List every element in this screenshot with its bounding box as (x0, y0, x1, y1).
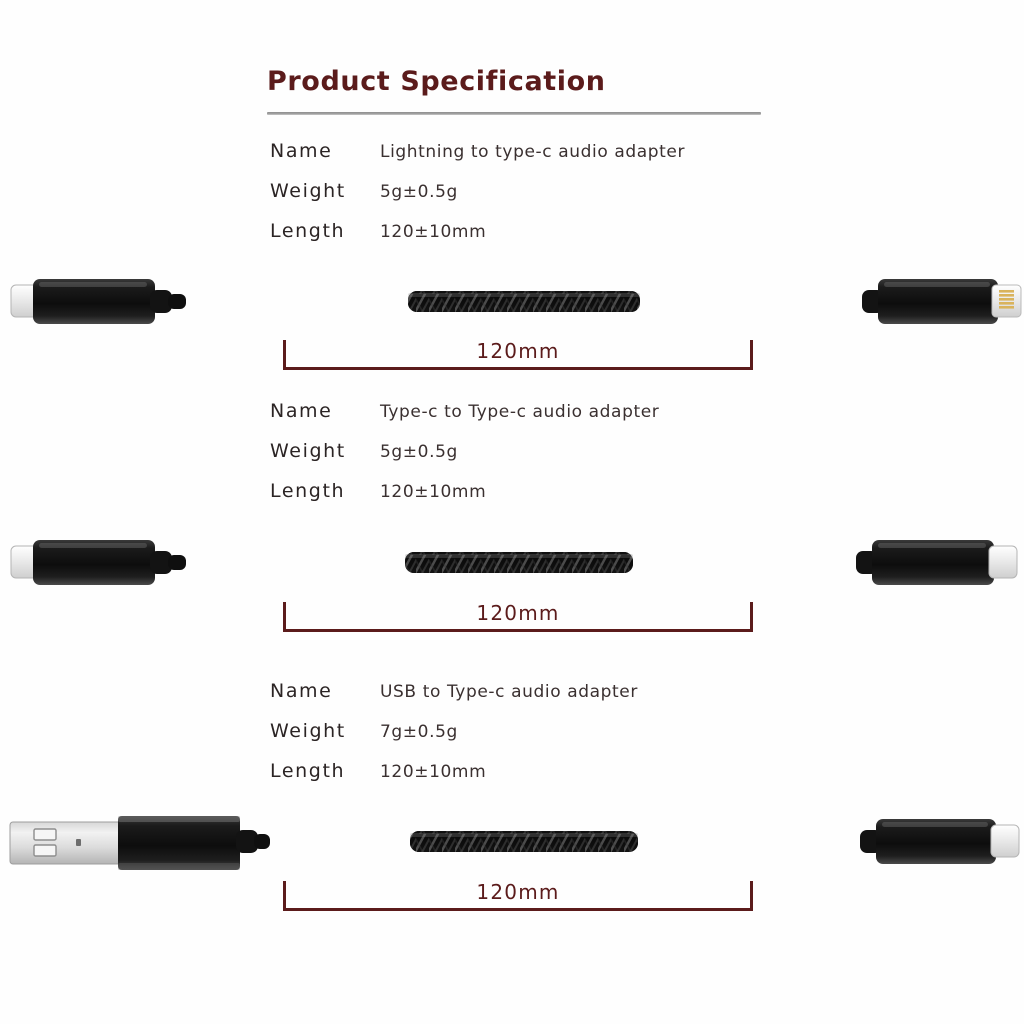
spec-value-length: 120±10mm (380, 482, 486, 502)
spec-row-weight: Weight 7g±0.5g (0, 720, 1024, 760)
spec-row-length: Length 120±10mm (0, 480, 1024, 520)
spec-label-name: Name (270, 680, 332, 702)
dimension-bracket-2: 120mm (283, 598, 753, 632)
spec-label-length: Length (270, 220, 345, 242)
page-title: Product Specification (267, 66, 606, 97)
usb-c-connector-right-3 (860, 819, 1019, 864)
spec-value-name: Type-c to Type-c audio adapter (380, 402, 659, 422)
spec-value-name: USB to Type-c audio adapter (380, 682, 638, 702)
dimension-tick-right (750, 340, 753, 370)
dimension-line (283, 367, 753, 370)
spec-label-weight: Weight (270, 720, 346, 742)
dimension-tick-right (750, 602, 753, 632)
dimension-line (283, 908, 753, 911)
dimension-label-2: 120mm (283, 601, 753, 625)
dimension-tick-left (283, 881, 286, 911)
spec-row-name: Name USB to Type-c audio adapter (0, 680, 1024, 720)
spec-row-weight: Weight 5g±0.5g (0, 440, 1024, 480)
spec-row-name: Name Lightning to type-c audio adapter (0, 140, 1024, 180)
braided-cable-1 (408, 291, 640, 312)
spec-block-2: Name Type-c to Type-c audio adapter Weig… (0, 400, 1024, 520)
product-image-3 (0, 812, 1024, 932)
spec-block-3: Name USB to Type-c audio adapter Weight … (0, 680, 1024, 800)
spec-label-weight: Weight (270, 180, 346, 202)
spec-value-weight: 5g±0.5g (380, 182, 458, 202)
spec-value-weight: 5g±0.5g (380, 442, 458, 462)
braided-cable-3 (410, 831, 638, 852)
spec-label-weight: Weight (270, 440, 346, 462)
dimension-tick-right (750, 881, 753, 911)
dimension-label-1: 120mm (283, 339, 753, 363)
product-image-2 (0, 533, 1024, 653)
dimension-bracket-3: 120mm (283, 877, 753, 911)
dimension-bracket-1: 120mm (283, 336, 753, 370)
dimension-line (283, 629, 753, 632)
spec-row-name: Name Type-c to Type-c audio adapter (0, 400, 1024, 440)
spec-row-weight: Weight 5g±0.5g (0, 180, 1024, 220)
spec-row-length: Length 120±10mm (0, 760, 1024, 800)
product-image-1 (0, 272, 1024, 392)
usb-c-connector-right-2 (856, 540, 1017, 585)
spec-row-length: Length 120±10mm (0, 220, 1024, 260)
spec-label-length: Length (270, 760, 345, 782)
dimension-label-3: 120mm (283, 880, 753, 904)
usb-c-connector-left-2 (11, 540, 186, 585)
spec-value-weight: 7g±0.5g (380, 722, 458, 742)
usb-a-connector-left-3 (10, 816, 270, 870)
braided-cable-2 (405, 552, 633, 573)
spec-label-name: Name (270, 140, 332, 162)
dimension-tick-left (283, 340, 286, 370)
dimension-tick-left (283, 602, 286, 632)
lightning-connector-right-1 (862, 279, 1021, 324)
spec-label-length: Length (270, 480, 345, 502)
spec-value-length: 120±10mm (380, 762, 486, 782)
spec-value-length: 120±10mm (380, 222, 486, 242)
product-specification-page: Product Specification Name Lightning to … (0, 0, 1024, 1024)
spec-value-name: Lightning to type-c audio adapter (380, 142, 685, 162)
title-divider (267, 112, 761, 115)
spec-label-name: Name (270, 400, 332, 422)
spec-block-1: Name Lightning to type-c audio adapter W… (0, 140, 1024, 260)
usb-c-connector-left-1 (11, 279, 186, 324)
